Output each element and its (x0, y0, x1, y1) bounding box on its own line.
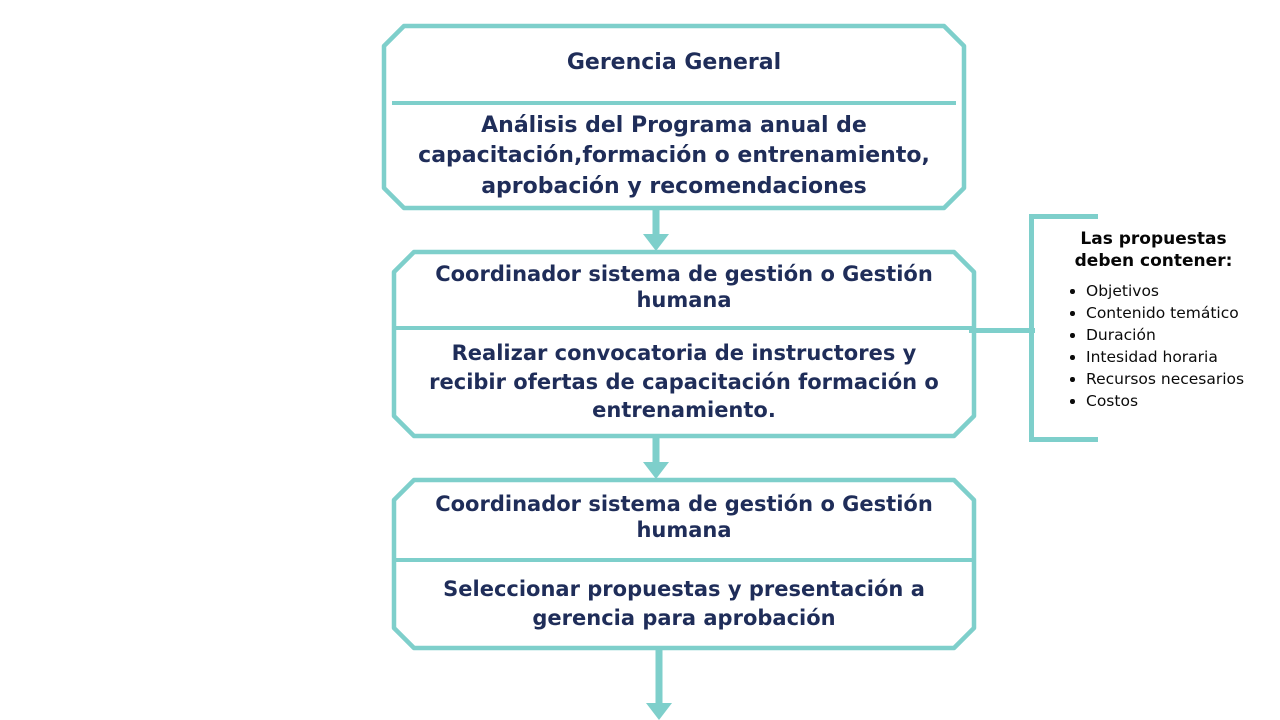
process-box-seleccionar-propuestas[interactable]: Coordinador sistema de gestión o Gestión… (392, 478, 976, 650)
box-action-text: Realizar convocatoria de instructores y … (392, 326, 976, 438)
arrow-down-icon-box2-to-box3 (643, 437, 669, 479)
list-item: Recursos necesarios (1067, 368, 1280, 390)
arrow-head (646, 703, 672, 720)
process-box-convocatoria-instructores[interactable]: Coordinador sistema de gestión o Gestión… (392, 250, 976, 438)
list-item: Costos (1067, 390, 1280, 412)
process-box-gerencia-general[interactable]: Gerencia General Análisis del Programa a… (382, 24, 966, 210)
list-item: Contenido temático (1067, 302, 1280, 324)
box-role-label: Coordinador sistema de gestión o Gestión… (392, 478, 976, 558)
note-heading: Las propuestas deben contener: (1043, 228, 1280, 272)
list-item: Objetivos (1067, 280, 1280, 302)
note-requirements-list: Objetivos Contenido temático Duración In… (1043, 280, 1280, 412)
arrow-head (643, 234, 669, 251)
box-action-text: Seleccionar propuestas y presentación a … (392, 558, 976, 650)
arrow-head (643, 462, 669, 479)
arrow-stem (656, 649, 663, 705)
arrow-down-icon-box3-to-next (646, 649, 672, 720)
connector-line-box2-to-note (969, 328, 1035, 333)
note-panel-propuestas[interactable]: Las propuestas deben contener: Objetivos… (1029, 214, 1280, 442)
bracket-top-arm (1029, 214, 1098, 219)
box-role-label: Coordinador sistema de gestión o Gestión… (392, 250, 976, 326)
arrow-stem (653, 437, 660, 463)
arrow-down-icon-box1-to-box2 (643, 209, 669, 251)
box-role-label: Gerencia General (382, 24, 966, 103)
list-item: Intesidad horaria (1067, 346, 1280, 368)
list-item: Duración (1067, 324, 1280, 346)
arrow-stem (653, 209, 660, 235)
box-action-text: Análisis del Programa anual de capacitac… (382, 103, 966, 210)
flowchart-canvas: Gerencia General Análisis del Programa a… (0, 0, 1280, 720)
bracket-vertical-bar (1029, 214, 1034, 442)
